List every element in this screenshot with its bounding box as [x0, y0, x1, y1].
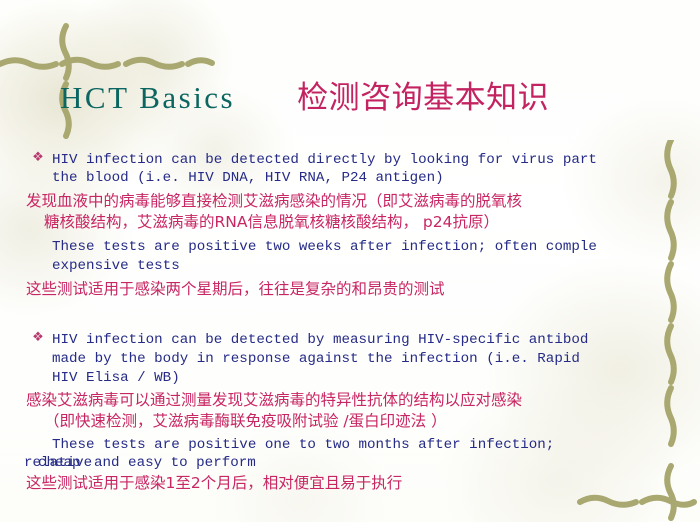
bullet2-en-line-5-tail: and easy to perform	[94, 453, 256, 474]
bullet1-cn-line-2: 糖核酸结构，艾滋病毒的RNA信息脱氧核糖核酸结构， p24抗原）	[44, 212, 499, 233]
bamboo-ornament-bottom-right	[560, 462, 700, 522]
bullet2-en-line-1: HIV infection can be detected by measuri…	[52, 330, 588, 351]
bullet1-cn-line-3: 这些测试适用于感染两个星期后，往往是复杂的和昂贵的测试	[26, 279, 445, 300]
bullet2-cn-line-2: （即快速检测，艾滋病毒酶联免疫吸附试验 /蛋白印迹法 ）	[44, 411, 447, 432]
bullet2-cn-line-3: 这些测试适用于感染1至2个月后，相对便宜且易于执行	[26, 473, 402, 494]
slide-title: HCT Basics 检测咨询基本知识	[60, 72, 549, 117]
bamboo-ornament-right-stalk	[655, 140, 695, 470]
bullet1-en-line-2: the blood (i.e. HIV DNA, HIV RNA, P24 an…	[52, 168, 444, 189]
bullet2-cn-line-1: 感染艾滋病毒可以通过测量发现艾滋病毒的特异性抗体的结构以应对感染	[26, 390, 522, 411]
title-english: HCT Basics	[60, 80, 235, 116]
bullet2-en-line-5-overlap-cheap: cheap	[38, 453, 81, 474]
slide-canvas: HCT Basics 检测咨询基本知识 ❖ HIV infection can …	[0, 0, 700, 522]
bullet-marker-icon: ❖	[32, 332, 44, 344]
bullet2-en-line-3: HIV Elisa / WB)	[52, 368, 180, 389]
bullet1-en-line-3: These tests are positive two weeks after…	[52, 237, 597, 258]
title-chinese: 检测咨询基本知识	[297, 72, 549, 117]
bullet-marker-icon: ❖	[32, 152, 44, 164]
bullet2-en-line-2: made by the body in response against the…	[52, 349, 580, 370]
bullet1-en-line-4: expensive tests	[52, 256, 180, 277]
bullet1-cn-line-1: 发现血液中的病毒能够直接检测艾滋病感染的情况（即艾滋病毒的脱氧核	[26, 191, 522, 212]
